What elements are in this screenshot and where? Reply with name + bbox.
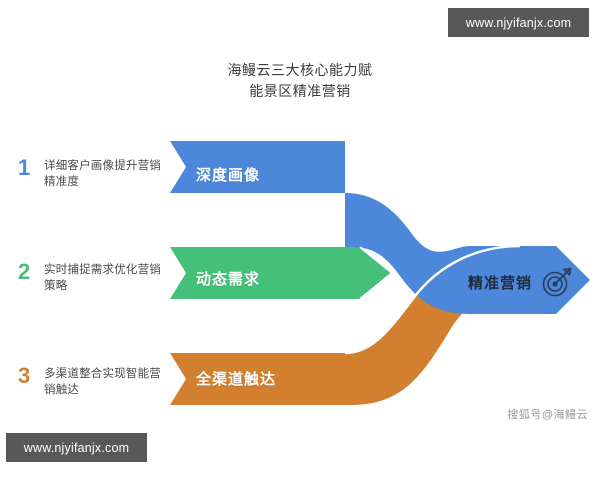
step-description-2: 实时捕捉需求优化营销策略 bbox=[44, 262, 164, 294]
band-label-1: 深度画像 bbox=[196, 164, 260, 185]
target-icon bbox=[540, 265, 574, 299]
band-label-2: 动态需求 bbox=[196, 268, 260, 289]
step-description-3: 多渠道整合实现智能营销触达 bbox=[44, 366, 164, 398]
page-title-line-2: 能景区精准营销 bbox=[160, 81, 440, 102]
list-item: 3 多渠道整合实现智能营销触达 bbox=[16, 366, 176, 398]
step-number-2: 2 bbox=[16, 262, 44, 282]
outcome-group: 精准营销 bbox=[468, 265, 574, 299]
list-item: 1 详细客户画像提升营销精准度 bbox=[16, 158, 176, 190]
watermark-bottom: www.njyifanjx.com bbox=[6, 433, 147, 462]
step-number-3: 3 bbox=[16, 366, 44, 386]
source-credit: 搜狐号@海鳗云 bbox=[507, 406, 588, 422]
step-number-1: 1 bbox=[16, 158, 44, 178]
list-item: 2 实时捕捉需求优化营销策略 bbox=[16, 262, 176, 294]
page-title: 海鳗云三大核心能力赋 能景区精准营销 bbox=[160, 60, 440, 102]
watermark-top: www.njyifanjx.com bbox=[448, 8, 589, 37]
outcome-label: 精准营销 bbox=[468, 272, 532, 293]
infographic-canvas: 海鳗云三大核心能力赋 能景区精准营销 1 详细客户画像提升营销精准度 2 实时捕… bbox=[0, 0, 600, 480]
page-title-line-1: 海鳗云三大核心能力赋 bbox=[160, 60, 440, 81]
band-label-3: 全渠道触达 bbox=[196, 368, 276, 389]
step-description-1: 详细客户画像提升营销精准度 bbox=[44, 158, 164, 190]
